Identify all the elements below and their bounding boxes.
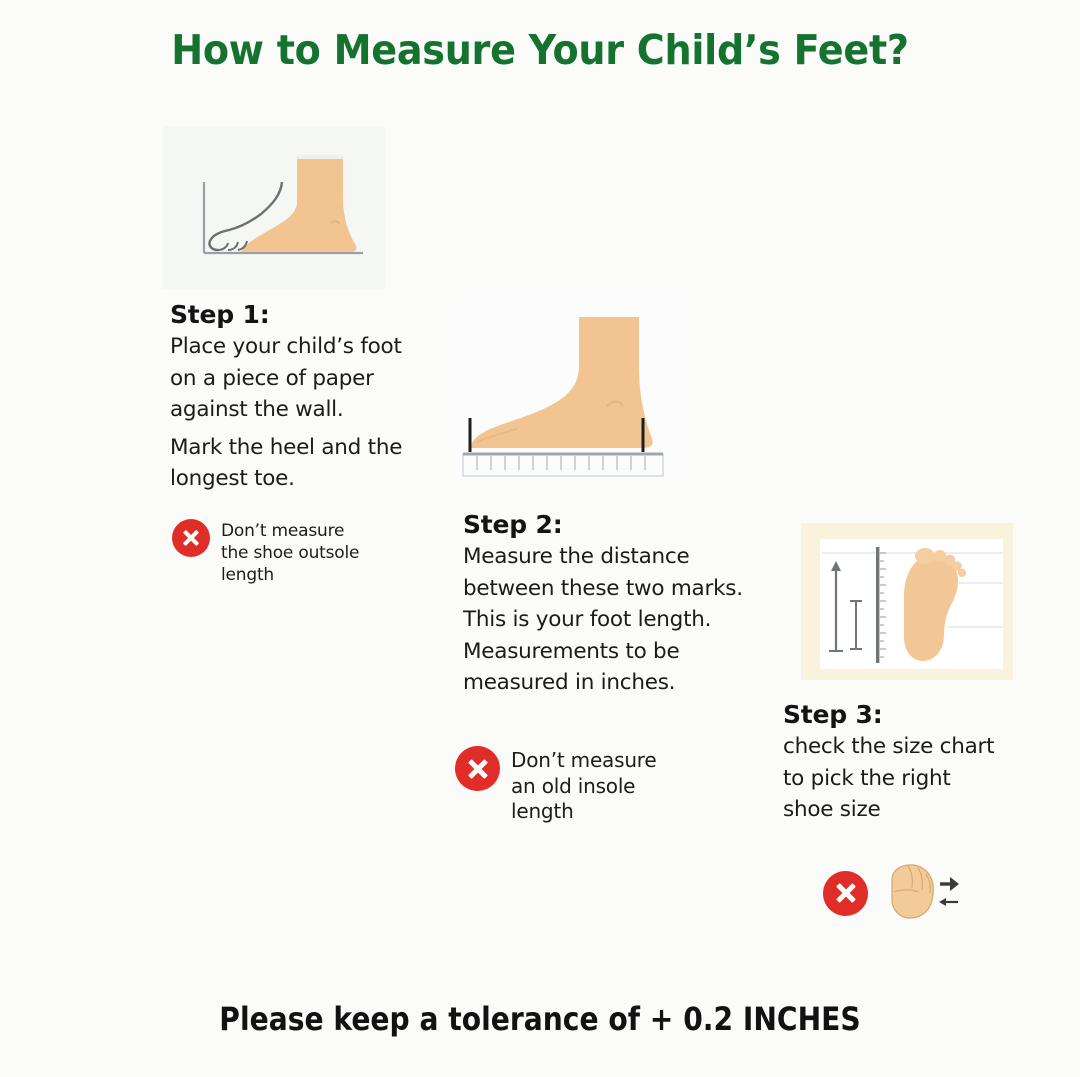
step3-illustration-footprint-chart: [801, 523, 1013, 680]
step-1-warning-text: Don’t measure the shoe outsole length: [221, 519, 359, 586]
foot-against-wall-svg: [163, 126, 385, 289]
foot-shape: [892, 865, 933, 918]
step-3-body: check the size chart to pick the right s…: [783, 733, 1023, 825]
toe-2: [228, 242, 238, 250]
toe-big: [915, 548, 935, 564]
arrow-short-up-icon: [850, 601, 862, 649]
step-2-line-5: measured in inches.: [463, 669, 783, 698]
step-2-warning-text: Don’t measure an old insole length: [511, 746, 657, 825]
step-2-line-3: This is your foot length.: [463, 606, 783, 635]
step-2-heading: Step 2:: [463, 510, 783, 539]
step-2-warning-line-2: an old insole: [511, 774, 657, 800]
chart-inner-panel: [820, 539, 1003, 669]
step-1-warning-line-1: Don’t measure: [221, 521, 359, 543]
step-2-warning-line-1: Don’t measure: [511, 748, 657, 774]
step-3-line-3: shoe size: [783, 796, 1023, 825]
step-1-line-4: Mark the heel and the: [170, 434, 405, 463]
step-3-line-2: to pick the right: [783, 765, 1023, 794]
step1-illustration-foot-against-wall: [163, 126, 385, 289]
step-2-text-block: Step 2: Measure the distance between the…: [463, 510, 783, 701]
footprint-chart-svg: [820, 539, 1003, 669]
step-3-heading: Step 3:: [783, 700, 1023, 729]
arrow-right-icon: [940, 877, 959, 891]
foot-on-ruler-svg: [455, 296, 687, 482]
step-1-warning-line-3: length: [221, 565, 359, 587]
step-3-text-block: Step 3: check the size chart to pick the…: [783, 700, 1023, 828]
infographic-canvas: How to Measure Your Child’s Feet? Step 1…: [0, 0, 1080, 1077]
step-2-line-2: between these two marks.: [463, 575, 783, 604]
toe-5: [958, 569, 966, 577]
ruler-top-edge: [463, 453, 663, 456]
footprint-sole: [904, 555, 958, 661]
ruler-body: [463, 454, 663, 476]
page-title: How to Measure Your Child’s Feet?: [38, 26, 1042, 74]
red-x-circle-icon: [823, 871, 868, 916]
step-1-line-3: against the wall.: [170, 396, 405, 425]
vertical-ruler-ticks: [880, 553, 886, 657]
step-2-warning: Don’t measure an old insole length: [455, 746, 657, 825]
step-3-warning: [823, 862, 960, 924]
arrow-long-up-icon: [829, 561, 843, 651]
ankle-cap: [297, 155, 343, 159]
toe-1: [218, 243, 228, 250]
step-1-line-1: Place your child’s foot: [170, 333, 405, 362]
step-1-line-5: longest toe.: [170, 465, 405, 494]
step-2-warning-line-3: length: [511, 799, 657, 825]
step-1-text-block: Step 1: Place your child’s foot on a pie…: [170, 300, 405, 497]
step-2-line-1: Measure the distance: [463, 543, 783, 572]
red-x-circle-icon: [172, 519, 210, 557]
toe-2: [934, 550, 946, 562]
step-1-warning: Don’t measure the shoe outsole length: [172, 519, 359, 586]
step-1-body: Place your child’s foot on a piece of pa…: [170, 333, 405, 494]
step-1-heading: Step 1:: [170, 300, 405, 329]
step2-illustration-foot-on-ruler: [455, 296, 687, 482]
foot-toes-with-arrows-icon: [888, 862, 960, 924]
tolerance-note: Please keep a tolerance of + 0.2 INCHES: [65, 1000, 1015, 1038]
foot-shape: [471, 316, 653, 448]
arrow-left-icon: [939, 898, 958, 906]
step-1-line-2: on a piece of paper: [170, 365, 405, 394]
vertical-ruler-bar: [876, 547, 879, 663]
step-1-warning-line-2: the shoe outsole: [221, 543, 359, 565]
ankle-cap: [579, 313, 639, 317]
red-x-circle-icon: [455, 746, 500, 791]
step-3-line-1: check the size chart: [783, 733, 1023, 762]
step-2-line-4: Measurements to be: [463, 638, 783, 667]
foot-shape: [241, 158, 356, 252]
step-2-body: Measure the distance between these two m…: [463, 543, 783, 698]
